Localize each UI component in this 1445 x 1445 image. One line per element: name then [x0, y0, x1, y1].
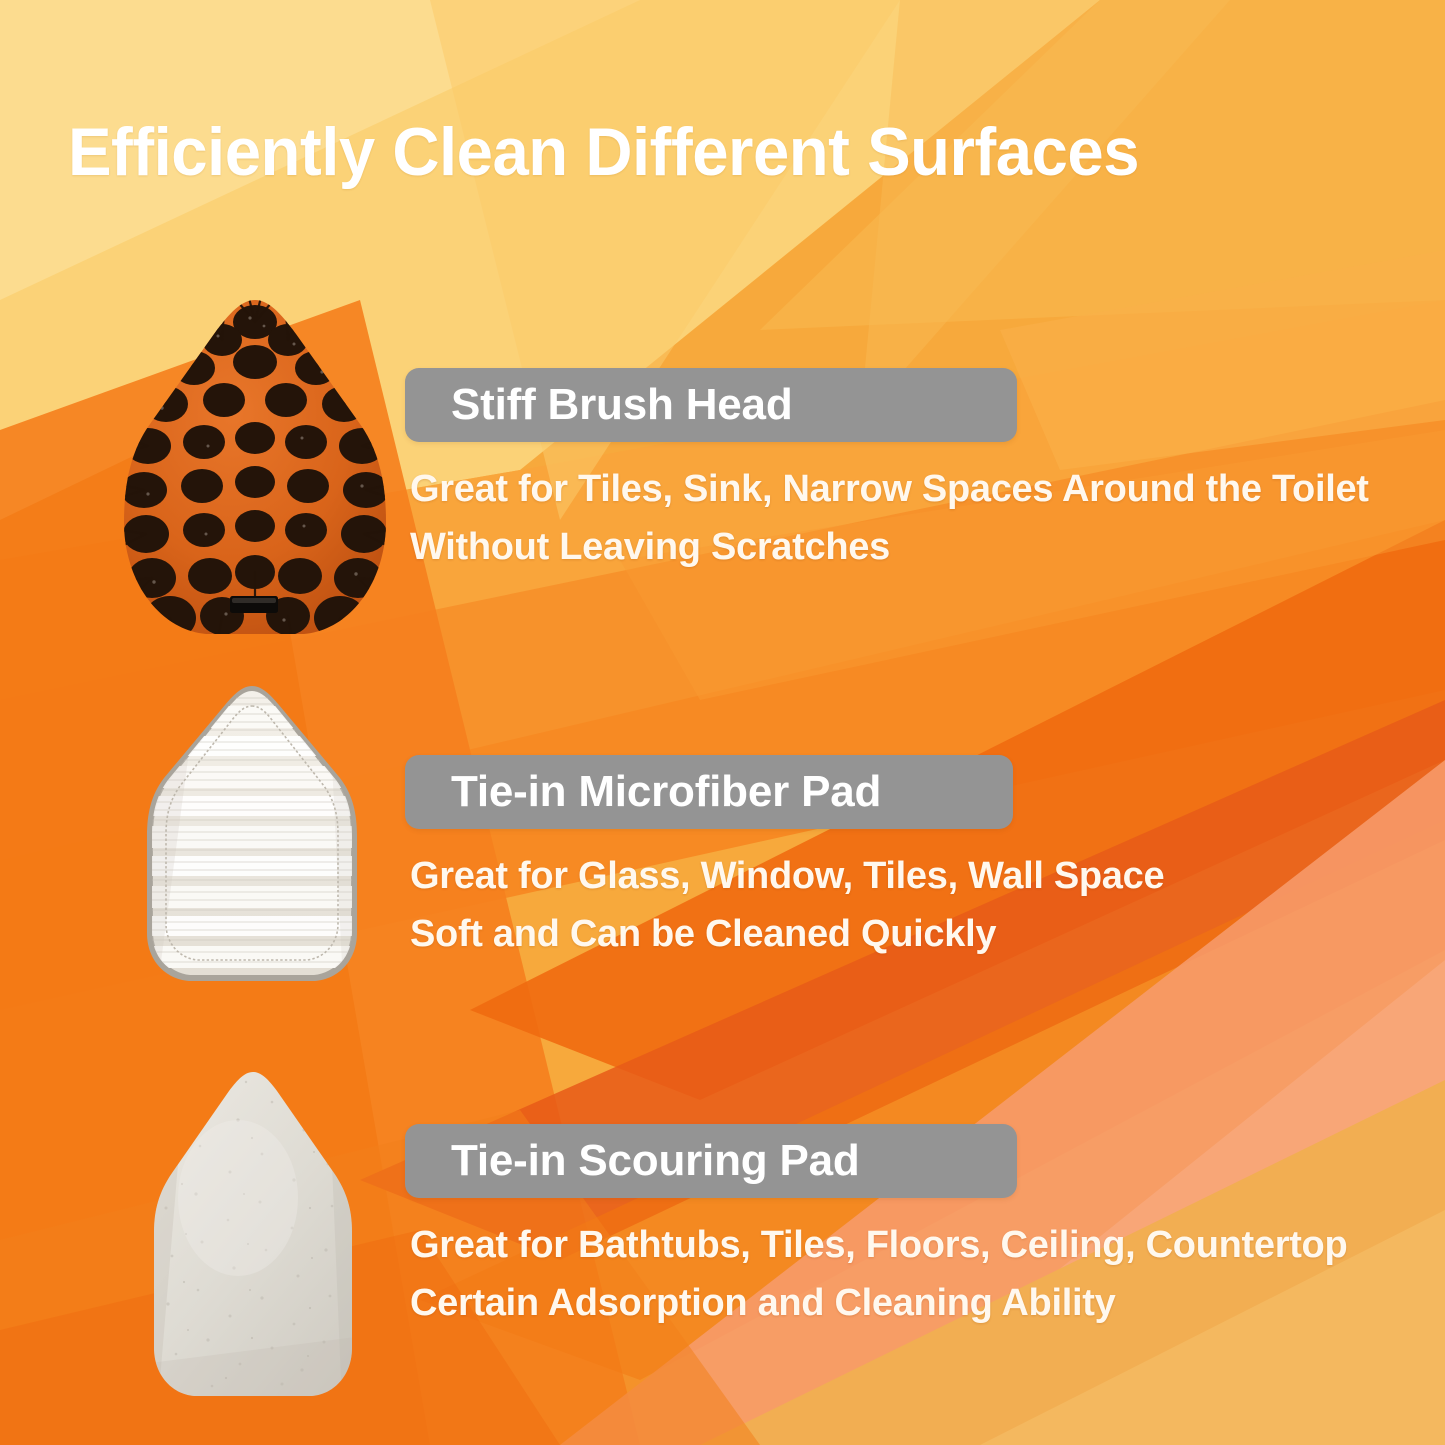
page-title: Efficiently Clean Different Surfaces: [68, 118, 1139, 186]
stiff-brush-head-image: [118, 296, 392, 640]
feature-badge-label-2: Tie-in Microfiber Pad: [451, 770, 881, 814]
feature-desc-line-2-1: Great for Glass, Window, Tiles, Wall Spa…: [410, 857, 1164, 895]
feature-desc-1: Great for Tiles, Sink, Narrow Spaces Aro…: [410, 470, 1369, 586]
feature-badge-1[interactable]: Stiff Brush Head: [405, 368, 1017, 442]
feature-desc-2: Great for Glass, Window, Tiles, Wall Spa…: [410, 857, 1164, 973]
feature-desc-line-1-2: Without Leaving Scratches: [410, 528, 1369, 566]
tie-in-scouring-pad-image: [142, 1068, 364, 1404]
feature-desc-line-2-2: Soft and Can be Cleaned Quickly: [410, 915, 1164, 953]
feature-badge-label-1: Stiff Brush Head: [451, 383, 793, 427]
feature-desc-line-3-2: Certain Adsorption and Cleaning Ability: [410, 1284, 1347, 1322]
feature-badge-2[interactable]: Tie-in Microfiber Pad: [405, 755, 1013, 829]
tie-in-microfiber-pad-image: [138, 684, 366, 984]
feature-desc-line-3-1: Great for Bathtubs, Tiles, Floors, Ceili…: [410, 1226, 1347, 1264]
feature-badge-3[interactable]: Tie-in Scouring Pad: [405, 1124, 1017, 1198]
feature-desc-line-1-1: Great for Tiles, Sink, Narrow Spaces Aro…: [410, 470, 1369, 508]
infographic-canvas: Efficiently Clean Different Surfaces: [0, 0, 1445, 1445]
feature-badge-label-3: Tie-in Scouring Pad: [451, 1139, 860, 1183]
feature-desc-3: Great for Bathtubs, Tiles, Floors, Ceili…: [410, 1226, 1347, 1342]
